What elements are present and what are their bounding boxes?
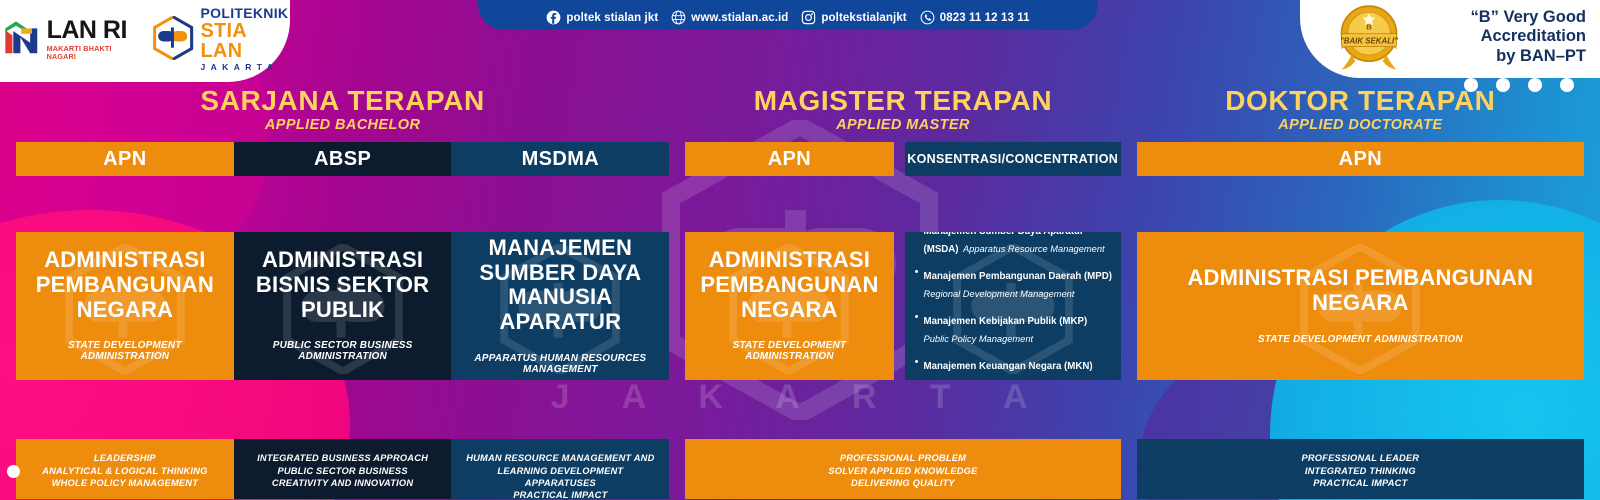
keyword-line: PROFESSIONAL PROBLEM [840, 452, 966, 464]
program-english-name: STATE DEVELOPMENT ADMINISTRATION [697, 340, 881, 362]
program-card-apn-master[interactable]: ADMINISTRASI PEMBANGUNAN NEGARA STATE DE… [685, 232, 893, 380]
tag-apn[interactable]: APN [16, 142, 234, 176]
keyword-line: WHOLE POLICY MANAGEMENT [52, 477, 198, 489]
keyword-line: INTEGRATED BUSINESS APPROACH [257, 452, 428, 464]
concentration-english: Apparatus Resource Management [963, 244, 1105, 254]
keyword-line: LEARNING DEVELOPMENT APPARATUSES [461, 465, 659, 490]
contact-phone-label: 0823 11 12 13 11 [940, 12, 1030, 24]
keywords-doctor: PROFESSIONAL LEADER INTEGRATED THINKING … [1137, 439, 1584, 499]
card-row-doctor: ADMINISTRASI PEMBANGUNAN NEGARA STATE DE… [1137, 232, 1584, 380]
keyword-line: SOLVER APPLIED KNOWLEDGE [828, 465, 977, 477]
column-header-master: MAGISTER TERAPAN APPLIED MASTER [685, 86, 1120, 133]
program-card-absp[interactable]: ADMINISTRASI BISNIS SEKTOR PUBLIK PUBLIC… [234, 232, 452, 380]
phone-icon [920, 10, 935, 25]
program-english-name: STATE DEVELOPMENT ADMINISTRATION [1258, 334, 1463, 345]
contact-facebook[interactable]: poltek stialan jkt [546, 10, 658, 25]
tag-konsentrasi[interactable]: KONSENTRASI/CONCENTRATION [905, 142, 1121, 176]
program-banner: J A K A R T A LAN RI MAKARTI BHAKTI NAGA… [0, 0, 1600, 500]
contact-bar: poltek stialan jkt www.stialan.ac.id pol… [478, 0, 1098, 30]
program-name: ADMINISTRASI PEMBANGUNAN NEGARA [28, 248, 222, 322]
keywords-apn: LEADERSHIP ANALYTICAL & LOGICAL THINKING… [16, 439, 234, 499]
program-english-name: APPARATUS HUMAN RESOURCES MANAGEMENT [463, 353, 657, 375]
keyword-row-doctor: PROFESSIONAL LEADER INTEGRATED THINKING … [1137, 439, 1584, 499]
stialan-line2: STIA LAN [201, 21, 290, 61]
card-row-bachelor: ADMINISTRASI PEMBANGUNAN NEGARA STATE DE… [16, 232, 669, 380]
keyword-line: PROFESSIONAL LEADER [1301, 452, 1419, 464]
tag-row-doctor: APN [1137, 142, 1584, 176]
tag-row-bachelor: APN ABSP MSDMA [16, 142, 669, 176]
contact-instagram[interactable]: poltekstialanjkt [801, 10, 906, 25]
program-name: ADMINISTRASI PEMBANGUNAN NEGARA [1149, 266, 1572, 315]
lanri-tagline: MAKARTI BHAKTI NAGARI [47, 45, 137, 59]
accreditation-line-1: “B” Very Good [1420, 8, 1586, 27]
column-subtitle: APPLIED BACHELOR [16, 117, 669, 133]
program-columns: SARJANA TERAPAN APPLIED BACHELOR APN ABS… [0, 86, 1600, 500]
keyword-row-master: PROFESSIONAL PROBLEM SOLVER APPLIED KNOW… [685, 439, 1120, 499]
program-card-apn[interactable]: ADMINISTRASI PEMBANGUNAN NEGARA STATE DE… [16, 232, 234, 380]
program-english-name: PUBLIC SECTOR BUSINESS ADMINISTRATION [246, 340, 440, 362]
column-title: DOKTOR TERAPAN [1137, 86, 1584, 115]
globe-icon [671, 10, 686, 25]
concentration-item[interactable]: • Manajemen Sumber Daya Aparatur (MSDA) … [915, 232, 1113, 257]
program-card-apn-doctor[interactable]: ADMINISTRASI PEMBANGUNAN NEGARA STATE DE… [1137, 232, 1584, 380]
concentration-english: State Financial Management [924, 379, 1042, 381]
column-title: SARJANA TERAPAN [16, 86, 669, 115]
keyword-line: ANALYTICAL & LOGICAL THINKING [42, 465, 207, 477]
keyword-line: PRACTICAL IMPACT [1313, 477, 1407, 489]
tag-apn-doctor[interactable]: APN [1137, 142, 1584, 176]
decorative-corner-dot [7, 465, 20, 478]
concentration-english: Regional Development Management [924, 289, 1075, 299]
concentration-item[interactable]: • Manajemen Kebijakan Publik (MKP) Publi… [915, 311, 1113, 347]
lanri-mark-icon [0, 16, 43, 62]
accreditation-seal-icon: B "BAIK SEKALI" [1326, 1, 1412, 73]
column-subtitle: APPLIED MASTER [685, 117, 1120, 133]
tag-row-master: APN KONSENTRASI/CONCENTRATION [685, 142, 1120, 176]
bullet-icon: • [915, 311, 919, 347]
stialan-hexagon-icon [152, 16, 194, 62]
concentration-english: Public Policy Management [924, 334, 1034, 344]
stialan-logo: POLITEKNIK STIA LAN JAKARTA [152, 6, 290, 72]
bullet-icon: • [915, 266, 919, 302]
contact-facebook-label: poltek stialan jkt [566, 12, 658, 24]
card-row-master: ADMINISTRASI PEMBANGUNAN NEGARA STATE DE… [685, 232, 1120, 380]
concentration-list: • Manajemen Sumber Daya Aparatur (MSDA) … [915, 232, 1113, 380]
accreditation-line-3: by BAN–PT [1420, 47, 1586, 66]
keyword-line: PUBLIC SECTOR BUSINESS [277, 465, 407, 477]
concentration-item[interactable]: • Manajemen Pembangunan Daerah (MPD) Reg… [915, 266, 1113, 302]
concentration-name: Manajemen Keuangan Negara (MKN) [924, 361, 1093, 372]
concentration-card: • Manajemen Sumber Daya Aparatur (MSDA) … [905, 232, 1121, 380]
concentration-item[interactable]: • Manajemen Keuangan Negara (MKN) State … [915, 356, 1113, 381]
program-name: MANAJEMEN SUMBER DAYA MANUSIA APARATUR [463, 236, 657, 335]
svg-text:"BAIK SEKALI": "BAIK SEKALI" [1340, 37, 1398, 46]
column-title: MAGISTER TERAPAN [685, 86, 1120, 115]
bullet-icon: • [915, 356, 919, 381]
facebook-icon [546, 10, 561, 25]
keywords-msdma: HUMAN RESOURCE MANAGEMENT AND LEARNING D… [451, 439, 669, 499]
tag-absp[interactable]: ABSP [234, 142, 452, 176]
keyword-line: PRACTICAL IMPACT [513, 489, 607, 500]
program-name: ADMINISTRASI PEMBANGUNAN NEGARA [697, 248, 881, 322]
column-sarjana-terapan: SARJANA TERAPAN APPLIED BACHELOR APN ABS… [16, 86, 669, 500]
keyword-line: INTEGRATED THINKING [1305, 465, 1416, 477]
instagram-icon [801, 10, 816, 25]
logo-plate: LAN RI MAKARTI BHAKTI NAGARI POLITEKNIK [0, 0, 290, 82]
keyword-row-bachelor: LEADERSHIP ANALYTICAL & LOGICAL THINKING… [16, 439, 669, 499]
concentration-name: Manajemen Pembangunan Daerah (MPD) [924, 271, 1112, 282]
keyword-line: LEADERSHIP [94, 452, 156, 464]
keyword-line: DELIVERING QUALITY [851, 477, 955, 489]
column-header-doctor: DOKTOR TERAPAN APPLIED DOCTORATE [1137, 86, 1584, 133]
tag-apn-master[interactable]: APN [685, 142, 893, 176]
column-doktor-terapan: DOKTOR TERAPAN APPLIED DOCTORATE APN ADM… [1137, 86, 1584, 500]
contact-instagram-label: poltekstialanjkt [821, 12, 906, 24]
column-subtitle: APPLIED DOCTORATE [1137, 117, 1584, 133]
lanri-name: LAN RI [47, 18, 137, 43]
stialan-line1: POLITEKNIK [201, 6, 290, 20]
lanri-logo: LAN RI MAKARTI BHAKTI NAGARI [0, 16, 136, 62]
contact-phone[interactable]: 0823 11 12 13 11 [920, 10, 1030, 25]
stialan-line3: JAKARTA [201, 63, 290, 72]
svg-text:B: B [1366, 22, 1372, 31]
column-header-bachelor: SARJANA TERAPAN APPLIED BACHELOR [16, 86, 669, 133]
keywords-master: PROFESSIONAL PROBLEM SOLVER APPLIED KNOW… [685, 439, 1120, 499]
keyword-line: CREATIVITY AND INNOVATION [272, 477, 413, 489]
program-name: ADMINISTRASI BISNIS SEKTOR PUBLIK [246, 248, 440, 322]
column-magister-terapan: MAGISTER TERAPAN APPLIED MASTER APN KONS… [685, 86, 1120, 500]
keyword-line: HUMAN RESOURCE MANAGEMENT AND [466, 452, 654, 464]
contact-website-label: www.stialan.ac.id [691, 12, 788, 24]
contact-website[interactable]: www.stialan.ac.id [671, 10, 788, 25]
accreditation-plate: B "BAIK SEKALI" “B” Very Good Accreditat… [1300, 0, 1600, 78]
accreditation-text: “B” Very Good Accreditation by BAN–PT [1420, 8, 1586, 66]
accreditation-line-2: Accreditation [1420, 27, 1586, 46]
bullet-icon: • [915, 232, 919, 257]
concentration-name: Manajemen Kebijakan Publik (MKP) [924, 316, 1088, 327]
program-english-name: STATE DEVELOPMENT ADMINISTRATION [28, 340, 222, 362]
tag-msdma[interactable]: MSDMA [451, 142, 669, 176]
program-card-msdma[interactable]: MANAJEMEN SUMBER DAYA MANUSIA APARATUR A… [451, 232, 669, 380]
keywords-absp: INTEGRATED BUSINESS APPROACH PUBLIC SECT… [234, 439, 452, 499]
